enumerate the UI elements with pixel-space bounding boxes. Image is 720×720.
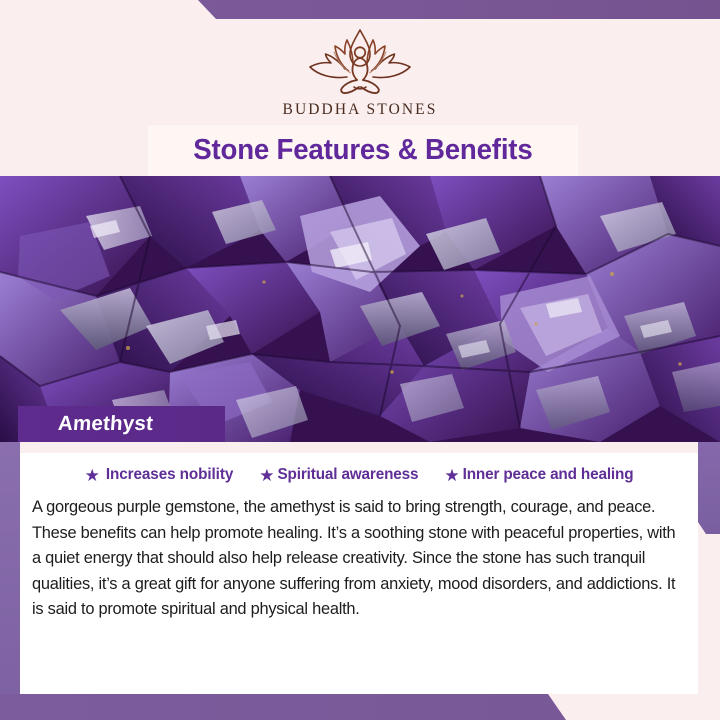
right-accent-flap [698, 442, 720, 534]
top-banner-accent [0, 0, 720, 19]
lotus-meditation-figure-icon [299, 25, 421, 97]
page-title: Stone Features & Benefits [193, 134, 532, 167]
star-icon: ★ [444, 467, 459, 484]
bottom-right-background [548, 694, 720, 720]
card-top-strip [20, 442, 698, 453]
stone-benefits-poster: BUDDHA STONES Stone Features & Benefits [0, 0, 720, 720]
benefit-label: Spiritual awareness [278, 466, 419, 484]
stone-name-ribbon: Amethyst [18, 406, 225, 442]
brand-logo: BUDDHA STONES [283, 25, 438, 119]
star-icon: ★ [259, 467, 274, 484]
left-accent-rail [0, 442, 20, 694]
benefit-item-1: ★ Increases nobility [85, 466, 234, 484]
content-card: ★ Increases nobility ★ Spiritual awarene… [20, 442, 698, 694]
amethyst-photo [0, 176, 720, 442]
benefits-row: ★ Increases nobility ★ Spiritual awarene… [20, 466, 698, 484]
benefit-label: Inner peace and healing [463, 466, 634, 484]
stone-description: A gorgeous purple gemstone, the amethyst… [32, 495, 684, 623]
stone-name: Amethyst [57, 412, 154, 436]
title-plaque: Stone Features & Benefits [148, 125, 578, 176]
star-icon: ★ [85, 467, 100, 484]
benefit-label: Increases nobility [106, 466, 233, 484]
benefit-item-3: ★ Inner peace and healing [444, 466, 633, 484]
brand-name: BUDDHA STONES [283, 101, 438, 119]
benefit-item-2: ★ Spiritual awareness [259, 466, 418, 484]
bottom-bar-accent [0, 694, 720, 720]
